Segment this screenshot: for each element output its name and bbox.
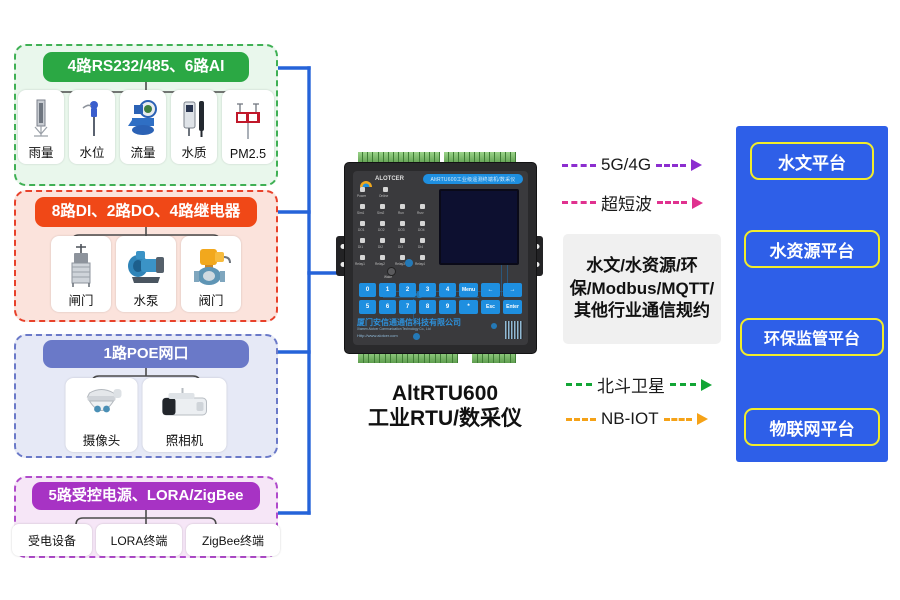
arrow-head-icon (701, 379, 712, 391)
chip-zigbee-terminal[interactable]: ZigBee终端 (186, 524, 280, 556)
platform-panel: 水文平台 水资源平台 环保监管平台 物联网平台 (736, 126, 888, 462)
led-label-sim1: Sim1 (357, 211, 364, 215)
led-label-do3: DO3 (398, 228, 405, 232)
platform-label: 水文平台 (778, 149, 846, 174)
key-0[interactable]: 0 (359, 283, 376, 297)
wake-label: Wake (384, 275, 392, 279)
protocol-box: 水文/水资源/环保/Modbus/MQTT/其他行业通信规约 (563, 234, 721, 344)
platform-box-hydrology[interactable]: 水文平台 (750, 142, 874, 180)
platform-box-water-resources[interactable]: 水资源平台 (744, 230, 880, 268)
device-card-rain-gauge[interactable]: 雨量 (18, 90, 64, 164)
led-label-relay3: Relay3 (395, 262, 405, 266)
group-title-label: 4路RS232/485、6路AI (68, 59, 225, 75)
dashed-line-right (664, 418, 692, 421)
group-title-controlled-power[interactable]: 5路受控电源、LORA/ZigBee (32, 482, 260, 510)
key-4[interactable]: 4 (439, 283, 456, 297)
led-label-do1: DO1 (358, 228, 365, 232)
arrow-head-icon (692, 197, 703, 209)
diagram-canvas: 4路RS232/485、6路AI 雨量 (0, 0, 900, 600)
led-label-relay2: Relay2 (375, 262, 385, 266)
device-caption: 流量 (130, 142, 155, 161)
dashed-line-right (670, 383, 696, 386)
device-card-ptz-camera[interactable]: 摄像头 (66, 378, 138, 452)
device-card-flow-meter[interactable]: 流量 (120, 90, 166, 164)
device-card-sluice-gate[interactable]: 闸门 (51, 236, 111, 312)
led-label-di3: DI3 (398, 245, 403, 249)
led-label-di1: DI1 (358, 245, 363, 249)
device-caption: 闸门 (68, 290, 93, 309)
device-front-panel: ALOTCER AltRTU600工业级遥测终端机/数采仪 Power Onli… (353, 171, 528, 345)
key-esc[interactable]: Esc (481, 300, 500, 314)
key-9[interactable]: 9 (439, 300, 456, 314)
chip-lora-terminal[interactable]: LORA终端 (96, 524, 182, 556)
link-row-beidou[interactable]: 北斗卫星 (566, 372, 712, 397)
dashed-line-left (562, 164, 596, 167)
dashed-line-left (566, 383, 592, 386)
led-label-sim2: Sim2 (377, 211, 384, 215)
dashed-line-left (566, 418, 596, 421)
led-label-run: Run (398, 211, 404, 215)
qr-code-icon (505, 321, 523, 339)
arrow-head-icon (697, 413, 708, 425)
chip-label: 受电设备 (28, 532, 76, 549)
led-label-di4: DI4 (418, 245, 423, 249)
device-caption: 水质 (181, 142, 206, 161)
device-banner: AltRTU600工业级遥测终端机/数采仪 (423, 174, 523, 184)
link-label: 北斗卫星 (597, 372, 665, 397)
flow-meter-icon (122, 94, 164, 141)
link-label: 超短波 (601, 190, 652, 215)
platform-label: 水资源平台 (770, 237, 855, 262)
group-title-analog-serial[interactable]: 4路RS232/485、6路AI (43, 52, 249, 82)
key-2[interactable]: 2 (399, 283, 416, 297)
key-menu[interactable]: Menu (459, 283, 478, 297)
brand-name: ALOTCER (375, 176, 404, 182)
link-row-nbiot[interactable]: NB-IOT (566, 409, 708, 429)
link-label: NB-IOT (601, 409, 659, 429)
device-card-bullet-camera[interactable]: 照相机 (143, 378, 227, 452)
device-caption: 雨量 (28, 142, 53, 161)
device-card-water-quality[interactable]: 水质 (171, 90, 217, 164)
key-enter[interactable]: Enter (503, 300, 522, 314)
platform-label: 物联网平台 (770, 415, 855, 440)
ptz-dome-camera-icon (68, 382, 136, 429)
key-5[interactable]: 5 (359, 300, 376, 314)
platform-box-environmental[interactable]: 环保监管平台 (740, 318, 884, 356)
device-card-valve[interactable]: 阀门 (181, 236, 241, 312)
key-8[interactable]: 8 (419, 300, 436, 314)
led-label-di2: DI2 (378, 245, 383, 249)
chip-row-power: 受电设备 LORA终端 ZigBee终端 (12, 524, 280, 556)
device-caption: 水位 (79, 142, 104, 161)
protocol-text: 水文/水资源/环保/Modbus/MQTT/其他行业通信规约 (567, 255, 717, 322)
rain-gauge-icon (20, 94, 62, 141)
company-name-en: Xiamen Alotcer Communication Technology … (357, 327, 430, 331)
device-caption-line2: 工业RTU/数采仪 (340, 407, 550, 432)
device-caption: 阀门 (198, 290, 223, 309)
device-card-water-level[interactable]: 水位 (69, 90, 115, 164)
key-7[interactable]: 7 (399, 300, 416, 314)
led-label-do4: DO4 (418, 228, 425, 232)
led-label-power: Power (357, 194, 366, 198)
chip-label: LORA终端 (111, 532, 168, 549)
key-6[interactable]: 6 (379, 300, 396, 314)
dashed-line-left (562, 201, 596, 204)
pm25-sensor-icon (224, 94, 272, 146)
led-label-relay4: Relay4 (415, 262, 425, 266)
platform-box-iot[interactable]: 物联网平台 (744, 408, 880, 446)
rtu-device[interactable]: ALOTCER AltRTU600工业级遥测终端机/数采仪 Power Onli… (330, 152, 550, 364)
chip-label: ZigBee终端 (202, 532, 264, 549)
key-3[interactable]: 3 (419, 283, 436, 297)
link-row-5g4g[interactable]: 5G/4G (562, 155, 702, 175)
valve-icon (183, 240, 239, 289)
device-caption: 水泵 (133, 290, 158, 309)
device-caption-line1: AltRTU600 (340, 382, 550, 407)
link-row-uhf[interactable]: 超短波 (562, 190, 703, 215)
device-row-analog: 雨量 水位 (18, 90, 274, 164)
device-banner-label: AltRTU600工业级遥测终端机/数采仪 (431, 176, 516, 183)
bullet-camera-icon (145, 382, 225, 429)
device-caption: 摄像头 (83, 430, 121, 449)
device-card-water-pump[interactable]: 水泵 (116, 236, 176, 312)
dashed-line-right (657, 201, 687, 204)
key-right-arrow[interactable]: → (503, 283, 522, 297)
platform-label: 环保监管平台 (764, 325, 860, 349)
dashed-line-right (656, 164, 686, 167)
link-label: 5G/4G (601, 155, 651, 175)
group-title-label: 1路POE网口 (103, 346, 188, 362)
device-card-pm25[interactable]: PM2.5 (222, 90, 274, 164)
sluice-gate-icon (53, 240, 109, 289)
lcd-screen (439, 189, 519, 265)
led-label-online: Online (379, 194, 388, 198)
led-label-do2: DO2 (378, 228, 385, 232)
key-1[interactable]: 1 (379, 283, 396, 297)
water-level-sensor-icon (71, 94, 113, 141)
device-row-digital: 闸门 水泵 (51, 236, 241, 312)
group-title-label: 5路受控电源、LORA/ZigBee (48, 488, 243, 504)
water-pump-icon (118, 240, 174, 289)
device-caption: 照相机 (166, 430, 204, 449)
key-star[interactable]: * (459, 300, 478, 314)
device-row-poe: 摄像头 照相机 (66, 378, 227, 452)
chip-powered-device[interactable]: 受电设备 (12, 524, 92, 556)
key-left-arrow[interactable]: ← (481, 283, 500, 297)
led-label-relay1: Relay1 (355, 262, 365, 266)
group-title-digital-io[interactable]: 8路DI、2路DO、4路继电器 (35, 197, 257, 227)
group-title-label: 8路DI、2路DO、4路继电器 (52, 204, 241, 220)
device-caption-block: AltRTU600 工业RTU/数采仪 (340, 382, 550, 432)
group-title-poe[interactable]: 1路POE网口 (43, 340, 249, 368)
water-quality-probe-icon (173, 94, 215, 141)
arrow-head-icon (691, 159, 702, 171)
company-website: Http://www.alotcer.com (357, 333, 398, 338)
led-label-rsrv: Rsrv (417, 211, 424, 215)
alotcer-logo-icon (359, 175, 373, 185)
device-chassis: ALOTCER AltRTU600工业级遥测终端机/数采仪 Power Onli… (344, 162, 537, 354)
device-caption: PM2.5 (230, 147, 266, 161)
